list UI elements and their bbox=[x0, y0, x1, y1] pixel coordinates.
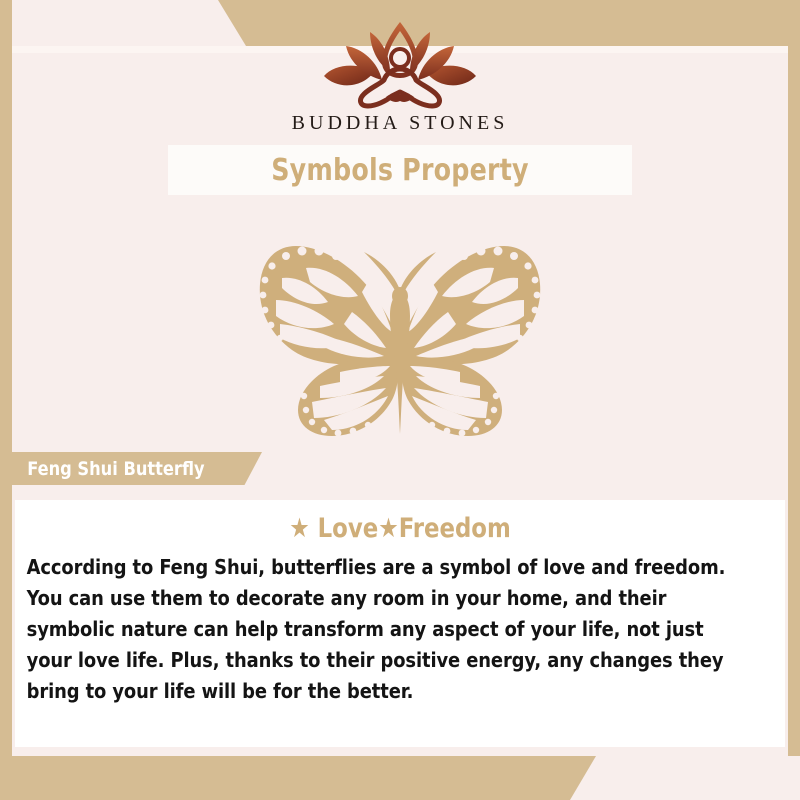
lotus-meditation-icon bbox=[312, 18, 488, 110]
brand-logo-block: BUDDHA STONES bbox=[0, 18, 800, 135]
frame-bottom-band bbox=[0, 756, 596, 800]
feng-shui-banner-label: Feng Shui Butterfly bbox=[12, 458, 205, 480]
description-paragraph: According to Feng Shui, butterflies are … bbox=[15, 552, 762, 707]
brand-name: BUDDHA STONES bbox=[0, 112, 800, 135]
content-card: ★ Love★Freedom According to Feng Shui, b… bbox=[15, 500, 785, 747]
butterfly-icon bbox=[220, 238, 580, 443]
feng-shui-banner: Feng Shui Butterfly bbox=[12, 452, 262, 485]
love-freedom-heading: ★ Love★Freedom bbox=[38, 500, 762, 544]
title-band: Symbols Property bbox=[168, 145, 632, 195]
page-title: Symbols Property bbox=[271, 153, 529, 188]
butterfly-illustration bbox=[0, 238, 800, 448]
